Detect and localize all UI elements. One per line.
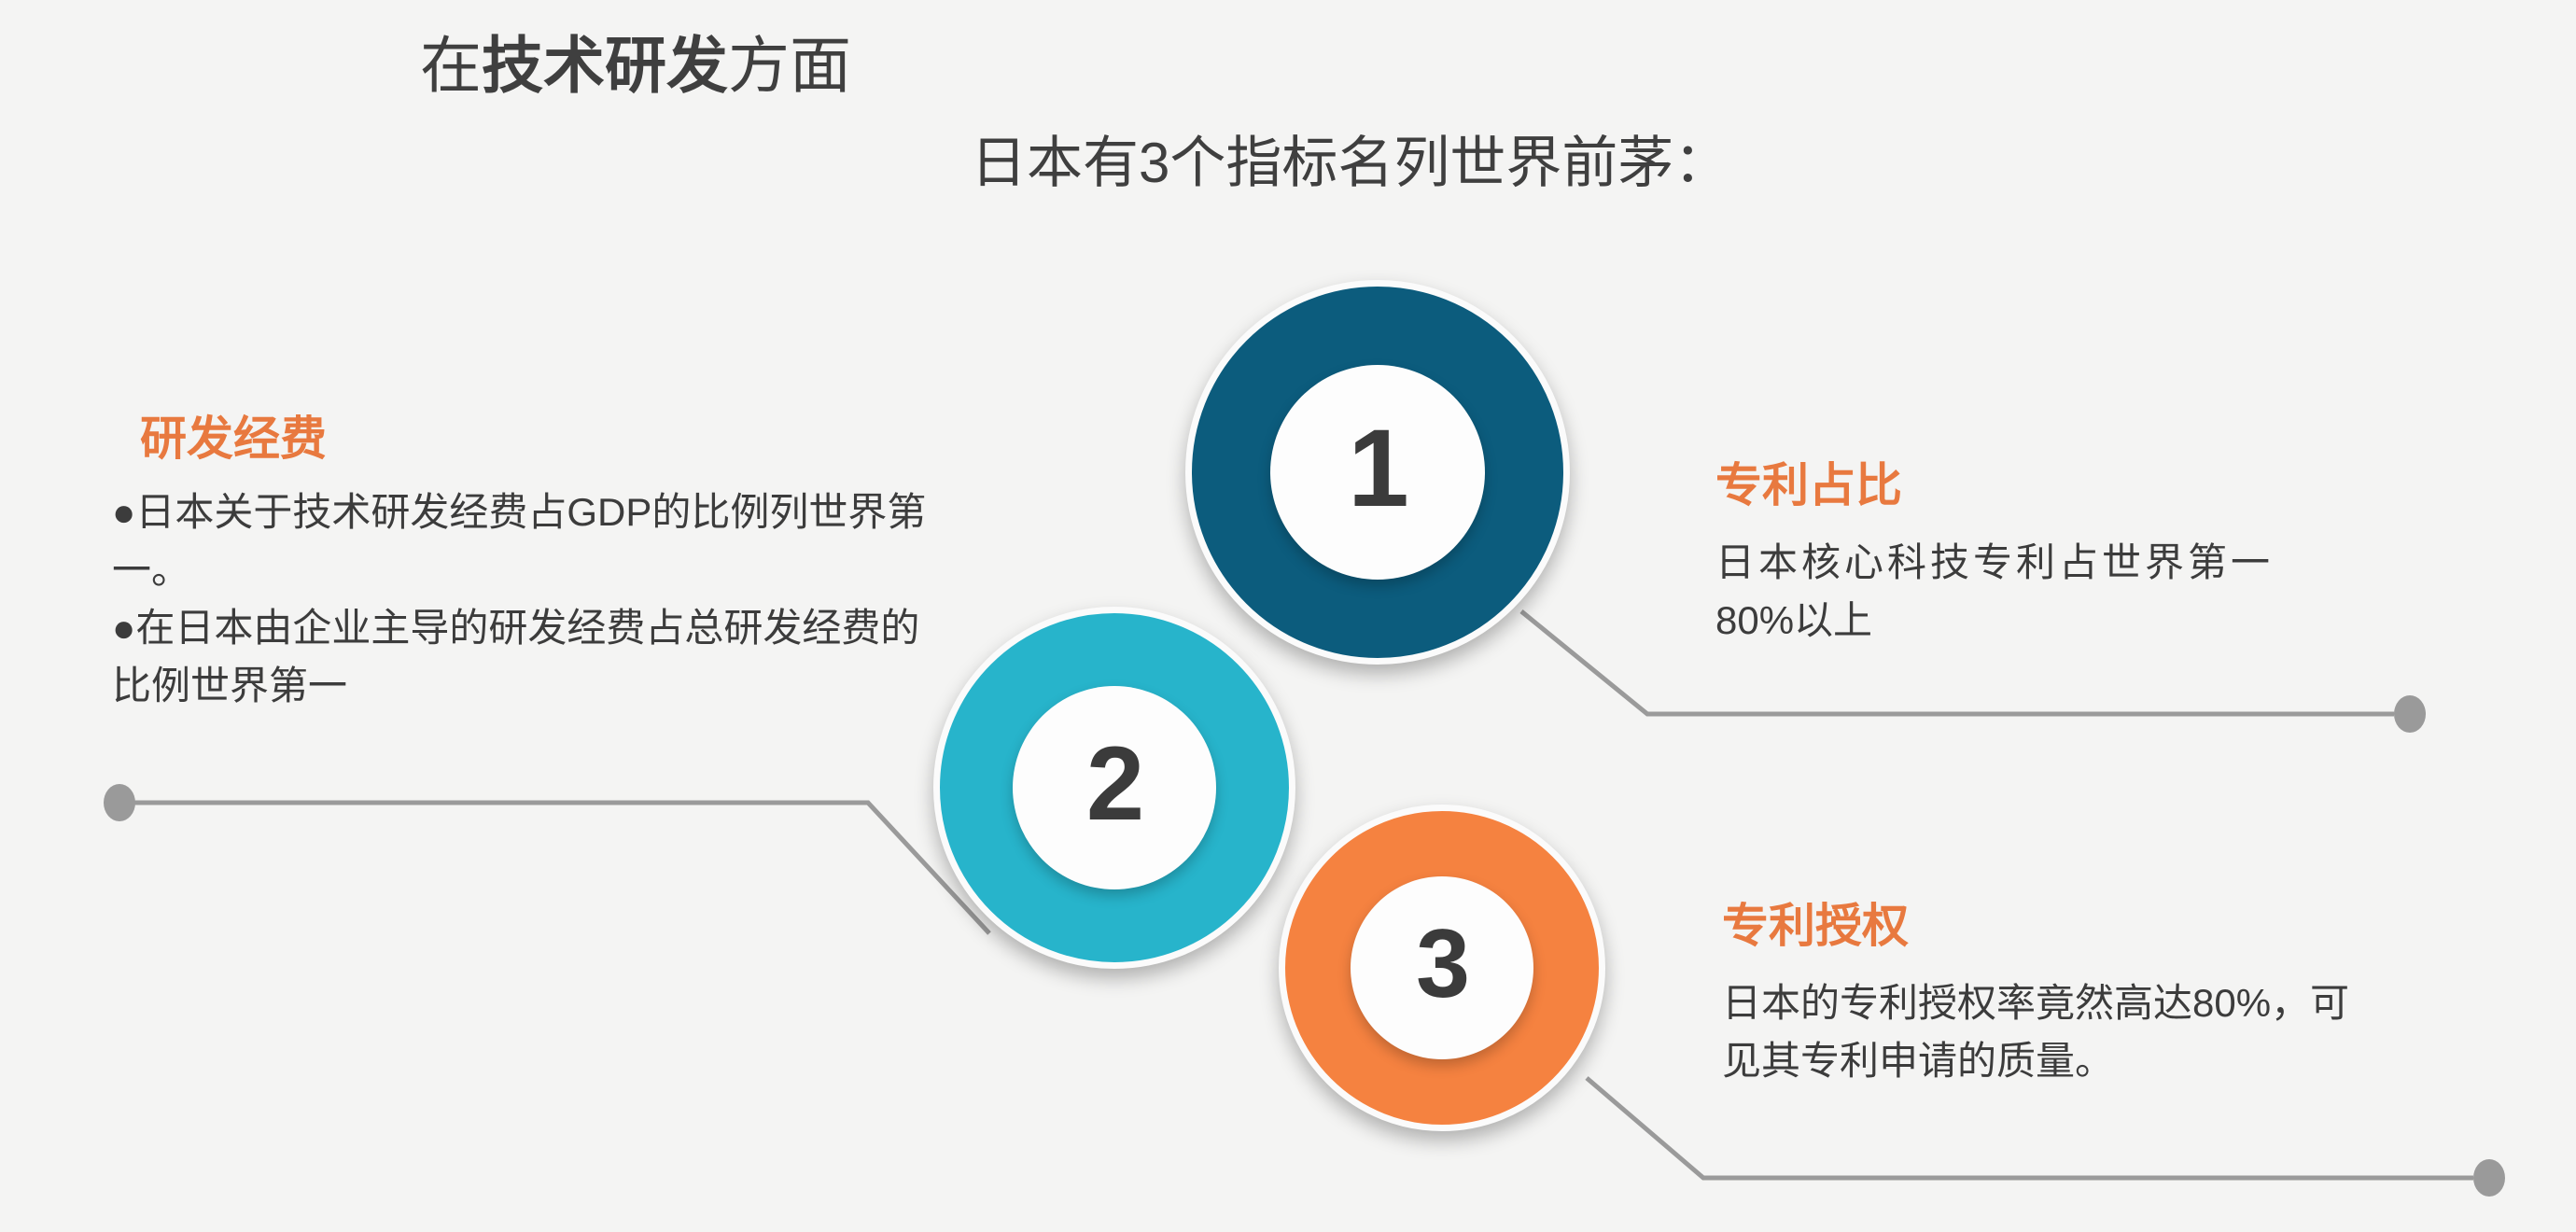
badge-two-number: 2	[1086, 732, 1142, 836]
badge-one-inner: 1	[1270, 365, 1485, 580]
text-block-patent-grant: 专利授权 日本的专利授权率竟然高达80%，可 见其专利申请的质量。	[1722, 898, 2478, 1090]
patent-grant-line-1: 日本的专利授权率竟然高达80%，可	[1722, 974, 2478, 1032]
patent-share-body: 日本核心科技专利占世界第一 80%以上	[1715, 534, 2462, 650]
badge-two-inner: 2	[1013, 686, 1216, 889]
badge-one-number: 1	[1348, 413, 1407, 524]
text-block-patent-share: 专利占比 日本核心科技专利占世界第一 80%以上	[1715, 457, 2462, 650]
patent-share-line-2: 80%以上	[1715, 598, 1872, 642]
patent-grant-line-2: 见其专利申请的质量。	[1722, 1032, 2478, 1090]
patent-share-heading: 专利占比	[1715, 457, 2462, 513]
rd-funding-bullet-2: ●在日本由企业主导的研发经费占总研发经费的比例世界第一	[112, 599, 933, 715]
connector-left-dot	[104, 784, 135, 821]
patent-grant-body: 日本的专利授权率竟然高达80%，可 见其专利申请的质量。	[1722, 974, 2478, 1090]
rd-funding-heading: 研发经费	[140, 411, 933, 467]
badge-one[interactable]: 1	[1185, 280, 1570, 665]
text-block-rd-funding: 研发经费 ●日本关于技术研发经费占GDP的比例列世界第一。 ●在日本由企业主导的…	[112, 411, 933, 715]
connector-left-line	[123, 803, 989, 933]
patent-grant-heading: 专利授权	[1722, 898, 2478, 954]
connector-right-top-dot	[2394, 695, 2426, 733]
badge-three[interactable]: 3	[1279, 805, 1605, 1131]
patent-share-line-1: 日本核心科技专利占世界第一	[1715, 534, 2462, 592]
badge-three-number: 3	[1416, 916, 1468, 1013]
badge-two[interactable]: 2	[933, 607, 1295, 969]
badge-three-inner: 3	[1351, 876, 1533, 1059]
connector-right-bottom-dot	[2473, 1159, 2505, 1197]
infographic-slide: 在技术研发方面 日本有3个指标名列世界前茅： 1 2 3 研发经费 ●日本关	[0, 0, 2576, 1232]
rd-funding-bullet-1: ●日本关于技术研发经费占GDP的比例列世界第一。	[112, 483, 933, 599]
rd-funding-body: ●日本关于技术研发经费占GDP的比例列世界第一。 ●在日本由企业主导的研发经费占…	[112, 483, 933, 715]
connector-right-bottom-line	[1587, 1078, 2473, 1178]
